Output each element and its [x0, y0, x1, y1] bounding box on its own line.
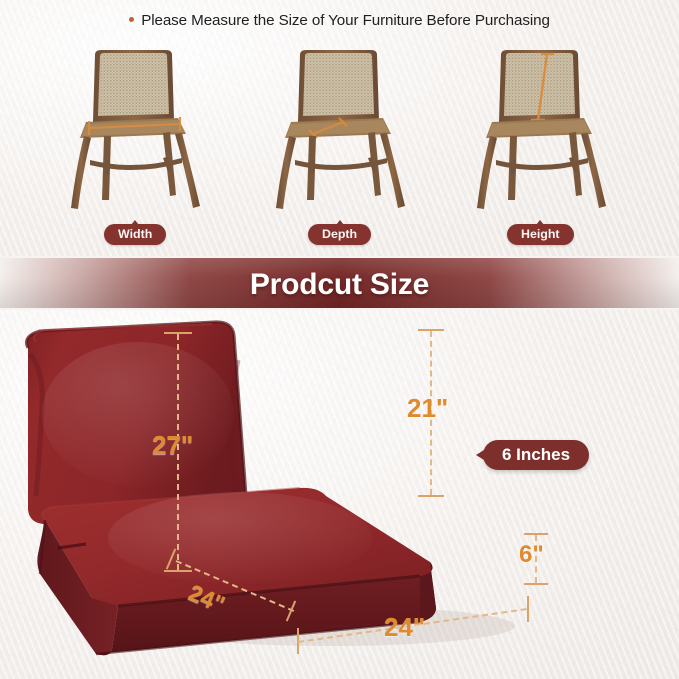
cushion-illustration: [0, 310, 679, 679]
pill-notch-icon: [536, 220, 544, 225]
chair-illustration-width: [62, 48, 212, 218]
thickness-callout-text: 6 Inches: [502, 445, 570, 464]
pill-notch-icon: [131, 220, 139, 225]
rule-cap-27-bottom: [164, 570, 192, 572]
chair-label-width-text: Width: [118, 227, 152, 241]
rule-cap-24w-right: [527, 596, 529, 622]
chair-depth-svg: [265, 48, 415, 218]
chair-label-depth: Depth: [308, 224, 371, 245]
thickness-callout: 6 Inches: [483, 440, 589, 470]
cushion-svg: [0, 310, 679, 679]
measure-label-6: 6": [519, 541, 544, 569]
measure-note: Please Measure the Size of Your Furnitur…: [0, 12, 679, 29]
measure-label-21: 21": [407, 393, 448, 424]
chair-width-svg: [62, 48, 212, 218]
bullet-dot-icon: [129, 17, 134, 22]
measure-label-24-width: 24": [384, 612, 425, 643]
product-size-infographic: Please Measure the Size of Your Furnitur…: [0, 0, 679, 679]
chair-label-height-text: Height: [521, 227, 560, 241]
chair-illustration-height: [467, 48, 617, 218]
chair-height-svg: [467, 48, 617, 218]
rule-cap-21-bottom: [418, 495, 444, 497]
pill-notch-icon: [336, 220, 344, 225]
chair-label-depth-text: Depth: [322, 227, 357, 241]
chair-label-width: Width: [104, 224, 166, 245]
section-banner-title: Prodcut Size: [0, 268, 679, 302]
chair-illustration-depth: [265, 48, 415, 218]
chair-label-height: Height: [507, 224, 574, 245]
callout-pointer-icon: [476, 450, 484, 460]
measure-note-text: Please Measure the Size of Your Furnitur…: [141, 12, 550, 29]
measure-label-27: 27": [152, 430, 193, 461]
rule-cap-6-bottom: [524, 583, 548, 585]
